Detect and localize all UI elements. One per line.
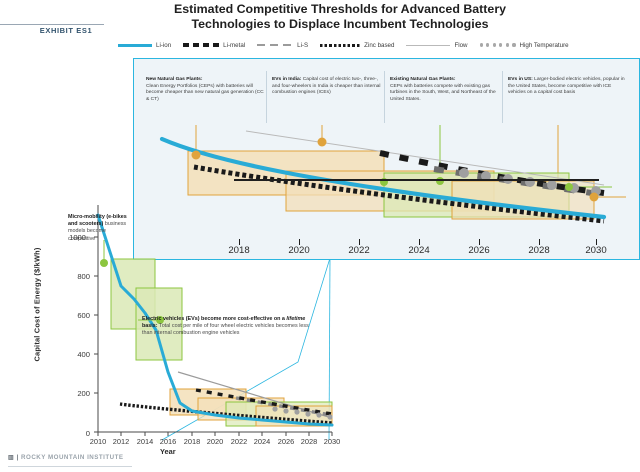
chart-legend: Li-ion Li-metal Li-S Zinc based Flow — [118, 38, 634, 52]
rmi-logo-icon: ▥ | — [8, 454, 19, 461]
inset-plot-area — [134, 125, 639, 259]
annotation-title: EVs in US: — [508, 77, 533, 82]
legend-label: Flow — [454, 42, 467, 49]
annotation-existing-natural-gas-plants: Existing Natural Gas Plants: CEPs with b… — [390, 77, 504, 103]
annotation-evs-in-us: EVs in US: Larger-bodied electric vehicl… — [508, 77, 626, 97]
inset-x-tick-label: 2022 — [339, 245, 379, 256]
y-axis-title: Capital Cost of Energy ($/kWh) — [33, 230, 42, 380]
dashed-gray-line-swatch-icon — [257, 44, 293, 46]
inset-x-tick-label: 2030 — [576, 245, 616, 256]
dotted-line-swatch-icon — [320, 44, 360, 47]
legend-item-li-ion[interactable]: Li-ion — [118, 42, 171, 49]
inset-x-tick-label: 2028 — [519, 245, 559, 256]
annotation-title-pre: Electric vehicles (EVs) become more cost… — [142, 316, 286, 322]
y-tick-label: 400 — [56, 350, 90, 359]
exhibit-divider — [0, 24, 104, 25]
title-line-2: Technologies to Displace Incumbent Techn… — [150, 17, 530, 32]
annotation-title-italic: lifetime — [286, 316, 305, 322]
annotation-body-post: cost basis — [552, 90, 575, 95]
x-tick-label: 2030 — [317, 437, 347, 446]
annotation-body: Clean Energy Portfolios (CEPs) with batt… — [146, 84, 264, 102]
annotation-title-post: basis: — [142, 323, 158, 329]
y-tick-label: 600 — [56, 311, 90, 320]
legend-item-high-temperature[interactable]: High Temperature — [480, 42, 569, 49]
legend-item-li-metal[interactable]: Li-metal — [183, 42, 245, 49]
annotation-title: EVs in India: — [272, 77, 301, 82]
legend-item-li-s[interactable]: Li-S — [257, 42, 308, 49]
legend-label: Zinc based — [364, 42, 394, 49]
inset-chart-panel: New Natural Gas Plants: Clean Energy Por… — [133, 58, 640, 260]
annotation-body: Total cost per mile of four wheel electr… — [142, 323, 309, 336]
annotation-title: New Natural Gas Plants: — [146, 77, 203, 82]
legend-label: Li-ion — [156, 42, 171, 49]
y-tick-label: 800 — [56, 272, 90, 281]
inset-x-axis-line — [234, 179, 599, 181]
inset-x-tick-label: 2018 — [219, 245, 259, 256]
annotation-micro-mobility: Micro-mobility (e-bikes and scooters) bu… — [68, 214, 130, 243]
annotation-body-italic: capital — [538, 90, 552, 95]
dashed-line-swatch-icon — [183, 43, 219, 47]
page-title: Estimated Competitive Thresholds for Adv… — [150, 2, 530, 32]
exhibit-label: EXHIBIT ES1 — [24, 26, 108, 35]
inset-x-tick-label: 2024 — [399, 245, 439, 256]
note-divider — [266, 71, 267, 123]
footer-branding: ▥ | ROCKY MOUNTAIN INSTITUTE — [8, 454, 124, 461]
exhibit-page: EXHIBIT ES1 Estimated Competitive Thresh… — [0, 0, 640, 472]
annotation-evs-in-india: EVs in India: Capital cost of electric t… — [272, 77, 384, 97]
thin-line-swatch-icon — [406, 45, 450, 46]
inset-x-tick-label: 2020 — [279, 245, 319, 256]
annotation-body: CEPs with batteries compete with existin… — [390, 84, 496, 102]
title-line-1: Estimated Competitive Thresholds for Adv… — [150, 2, 530, 17]
legend-label: High Temperature — [520, 42, 569, 49]
y-tick-label: 200 — [56, 389, 90, 398]
inset-x-tick-label: 2026 — [459, 245, 499, 256]
annotation-evs-lifetime: Electric vehicles (EVs) become more cost… — [142, 316, 314, 338]
legend-label: Li-S — [297, 42, 308, 49]
annotation-title: Existing Natural Gas Plants: — [390, 77, 456, 82]
line-swatch-icon — [118, 44, 152, 47]
x-axis-title: Year — [160, 447, 176, 456]
note-divider — [384, 71, 385, 123]
legend-label: Li-metal — [223, 42, 245, 49]
footer-divider — [8, 466, 132, 467]
annotation-new-natural-gas-plants: New Natural Gas Plants: Clean Energy Por… — [146, 77, 264, 103]
footer-text: ROCKY MOUNTAIN INSTITUTE — [21, 454, 124, 461]
dots-swatch-icon — [480, 43, 516, 47]
legend-item-zinc-based[interactable]: Zinc based — [320, 42, 394, 49]
legend-item-flow[interactable]: Flow — [406, 42, 467, 49]
